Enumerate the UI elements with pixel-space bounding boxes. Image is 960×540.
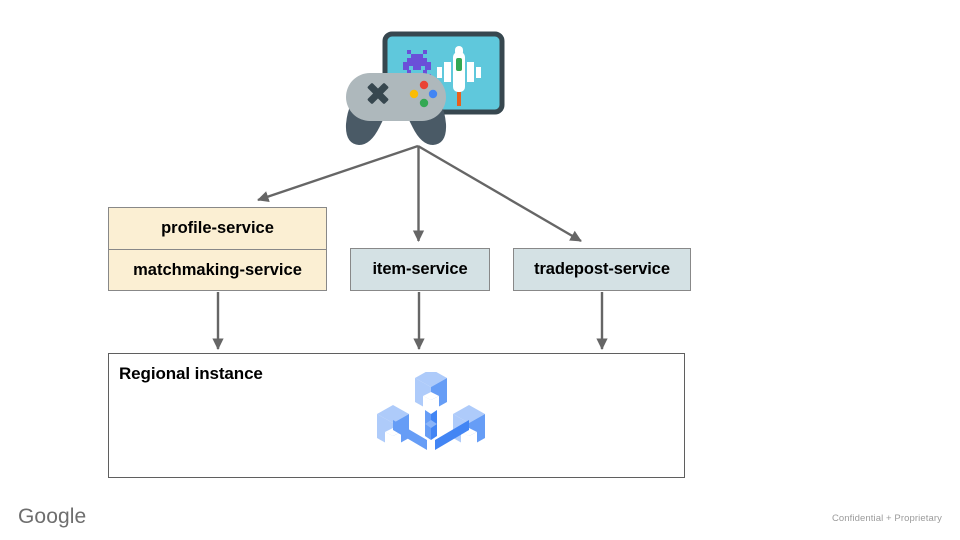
service-label: tradepost-service	[534, 260, 670, 279]
slide-canvas: profile-service matchmaking-service item…	[0, 0, 960, 540]
confidentiality-note: Confidential + Proprietary	[832, 513, 942, 524]
arrow-client-to-profile-service	[258, 146, 418, 200]
service-box-item-service[interactable]: item-service	[350, 248, 490, 291]
service-label: profile-service	[161, 219, 274, 238]
google-wordmark-logo: Google	[18, 505, 86, 529]
service-label: item-service	[372, 260, 467, 279]
regional-instance-container[interactable]: Regional instance	[108, 353, 685, 478]
service-box-matchmaking-service[interactable]: matchmaking-service	[109, 249, 326, 290]
game-controller-and-screen-icon	[336, 28, 508, 148]
arrow-client-to-tradepost-service	[418, 146, 581, 241]
gamepad-glyph	[346, 73, 446, 145]
service-box-tradepost-service[interactable]: tradepost-service	[513, 248, 691, 291]
service-stack-profile-matchmaking[interactable]: profile-service matchmaking-service	[108, 207, 327, 291]
service-box-profile-service[interactable]: profile-service	[109, 208, 326, 249]
google-kubernetes-engine-icon	[371, 372, 491, 472]
service-label: matchmaking-service	[133, 261, 302, 280]
regional-instance-title: Regional instance	[119, 364, 263, 384]
